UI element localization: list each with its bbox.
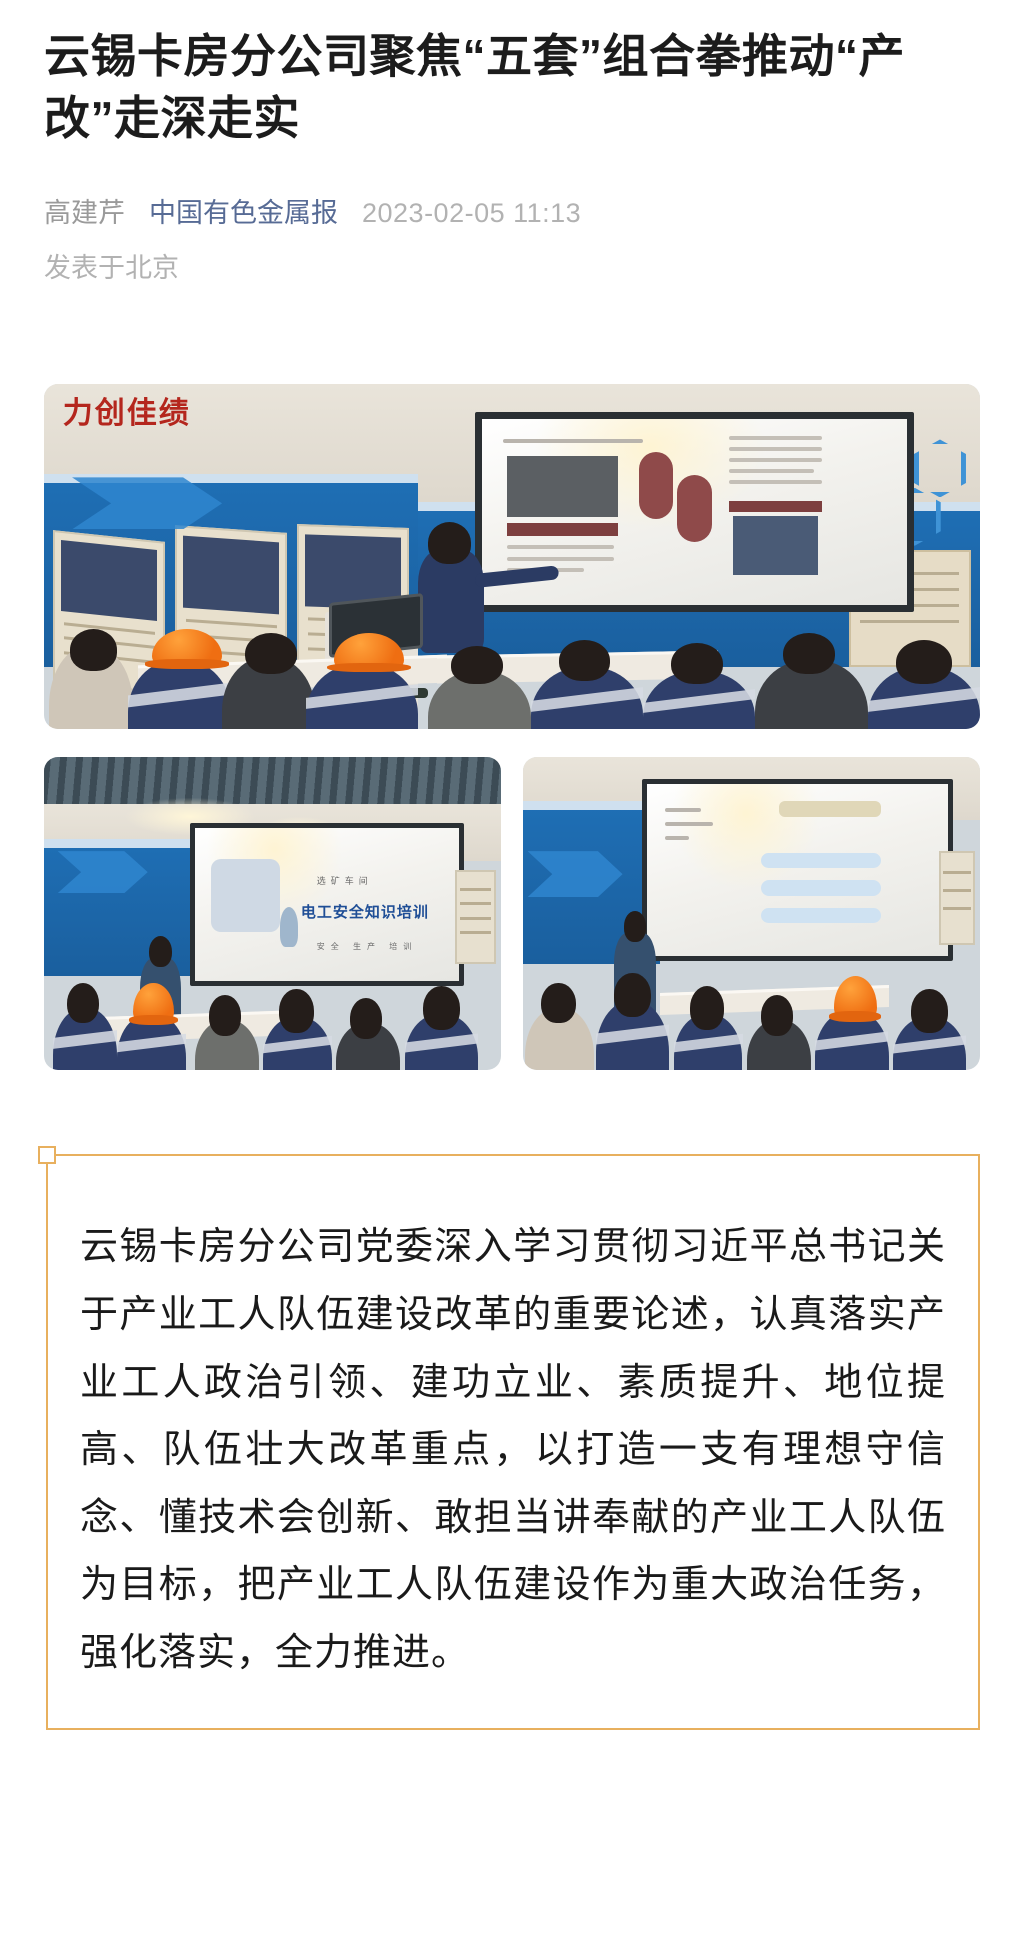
photo-scene-lower-right <box>523 757 980 1070</box>
photo-scene-lower-left: 选矿车间 电工安全知识培训 安全 生产 培训 <box>44 757 501 1070</box>
photo-scene-hero: 力创佳绩 <box>44 384 980 729</box>
article-images: 力创佳绩 <box>0 384 1024 1070</box>
byline-account-link[interactable]: 中国有色金属报 <box>149 193 338 234</box>
article-photo-lower-right[interactable] <box>523 757 980 1070</box>
slide-footer-text: 安全 生产 培训 <box>317 941 417 952</box>
slide-title-text: 电工安全知识培训 <box>301 901 429 922</box>
body-paragraph: 云锡卡房分公司党委深入学习贯彻习近平总书记关于产业工人队伍建设改革的重要论述，认… <box>80 1214 946 1687</box>
slide-subtitle-text: 选矿车间 <box>317 874 373 887</box>
byline-author: 高建芹 <box>44 193 125 234</box>
page-title: 云锡卡房分公司聚焦“五套”组合拳推动“产改”走深走实 <box>44 26 980 149</box>
wall-banner-text: 力创佳绩 <box>63 388 191 432</box>
article-photo-lower-left[interactable]: 选矿车间 电工安全知识培训 安全 生产 培训 <box>44 757 501 1070</box>
article-photo-hero[interactable]: 力创佳绩 <box>44 384 980 729</box>
byline-location: 发表于北京 <box>44 248 980 289</box>
article-header: 云锡卡房分公司聚焦“五套”组合拳推动“产改”走深走实 高建芹 中国有色金属报 2… <box>0 0 1024 288</box>
article-content: 云锡卡房分公司党委深入学习贯彻习近平总书记关于产业工人队伍建设改革的重要论述，认… <box>0 1154 1024 1729</box>
corner-marker-icon <box>38 1146 56 1164</box>
byline: 高建芹 中国有色金属报 2023-02-05 11:13 <box>44 193 980 234</box>
article-photo-row: 选矿车间 电工安全知识培训 安全 生产 培训 <box>44 757 980 1070</box>
article-page: 云锡卡房分公司聚焦“五套”组合拳推动“产改”走深走实 高建芹 中国有色金属报 2… <box>0 0 1024 1950</box>
byline-datetime: 2023-02-05 11:13 <box>362 193 581 234</box>
highlighted-paragraph-box: 云锡卡房分公司党委深入学习贯彻习近平总书记关于产业工人队伍建设改革的重要论述，认… <box>46 1154 980 1729</box>
